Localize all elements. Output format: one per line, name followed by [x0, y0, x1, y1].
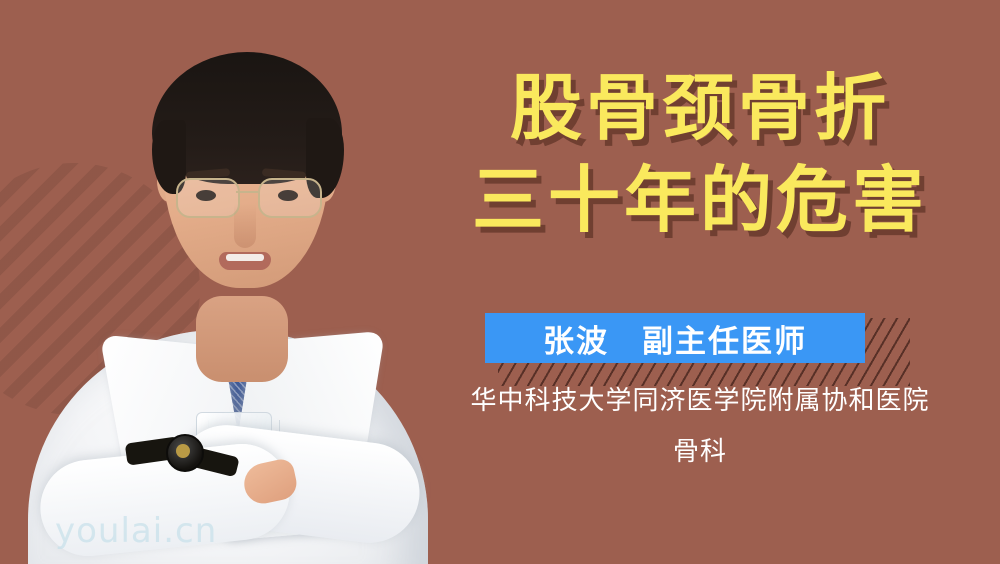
doctor-portrait-photo [0, 0, 430, 564]
lens-right [258, 178, 322, 218]
affiliation-block: 华中科技大学同济医学院附属协和医院 骨科 [420, 383, 980, 469]
nose [234, 204, 256, 248]
site-watermark: youlai.cn [55, 511, 217, 551]
department-name: 骨科 [420, 435, 980, 469]
speaker-name-label: 张波 副主任医师 [543, 316, 807, 361]
speaker-name-banner: 张波 副主任医师 [485, 313, 865, 363]
teeth [226, 254, 264, 261]
neck [196, 296, 288, 382]
hospital-name: 华中科技大学同济医学院附属协和医院 [420, 383, 980, 419]
watch-dial [176, 444, 190, 458]
lens-left [176, 178, 240, 218]
title-line-2: 三十年的危害 [420, 154, 980, 246]
video-thumbnail-poster: youlai.cn 股骨颈骨折 三十年的危害 张波 副主任医师 华中科技大学同济… [0, 0, 1000, 564]
poster-title: 股骨颈骨折 三十年的危害 [420, 62, 980, 246]
glasses-bridge [236, 191, 258, 193]
title-line-1: 股骨颈骨折 [420, 62, 980, 154]
